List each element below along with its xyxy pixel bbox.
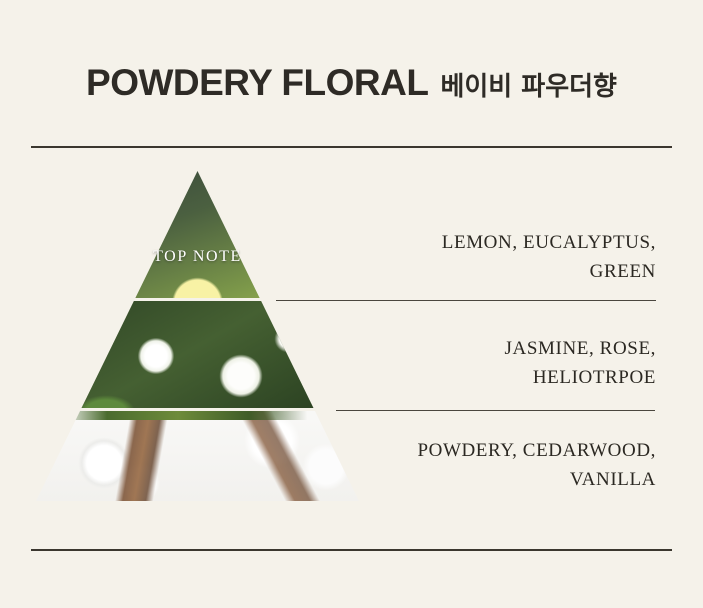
middle-note-ingredients: JASMINE, ROSE, HELIOTRPOE (505, 334, 656, 392)
page-title-korean: 베이비 파우더향 (440, 72, 617, 102)
top-note-ingredients: LEMON, EUCALYPTUS, GREEN (442, 228, 656, 286)
fragrance-pyramid: TOP NOTE MIDDLE NOTE BASE NOTE (36, 171, 359, 501)
page-title: POWDERY FLORAL베이비 파우더향 (0, 62, 703, 104)
lemon-photo (36, 171, 359, 298)
pyramid-band-middle: MIDDLE NOTE (36, 301, 359, 408)
page-title-english: POWDERY FLORAL (86, 62, 428, 103)
cotton-photo (36, 411, 359, 501)
note-divider-2 (336, 410, 655, 411)
note-divider-1 (276, 300, 656, 301)
fragrance-note-pyramid-page: POWDERY FLORAL베이비 파우더향 TOP NOTE MIDDLE N… (0, 0, 703, 608)
pyramid-band-base: BASE NOTE (36, 411, 359, 501)
base-note-ingredients: POWDERY, CEDARWOOD, VANILLA (417, 436, 656, 494)
top-divider-rule (31, 146, 672, 148)
jasmine-photo (36, 301, 359, 408)
pyramid-band-top: TOP NOTE (36, 171, 359, 298)
bottom-divider-rule (31, 549, 672, 551)
